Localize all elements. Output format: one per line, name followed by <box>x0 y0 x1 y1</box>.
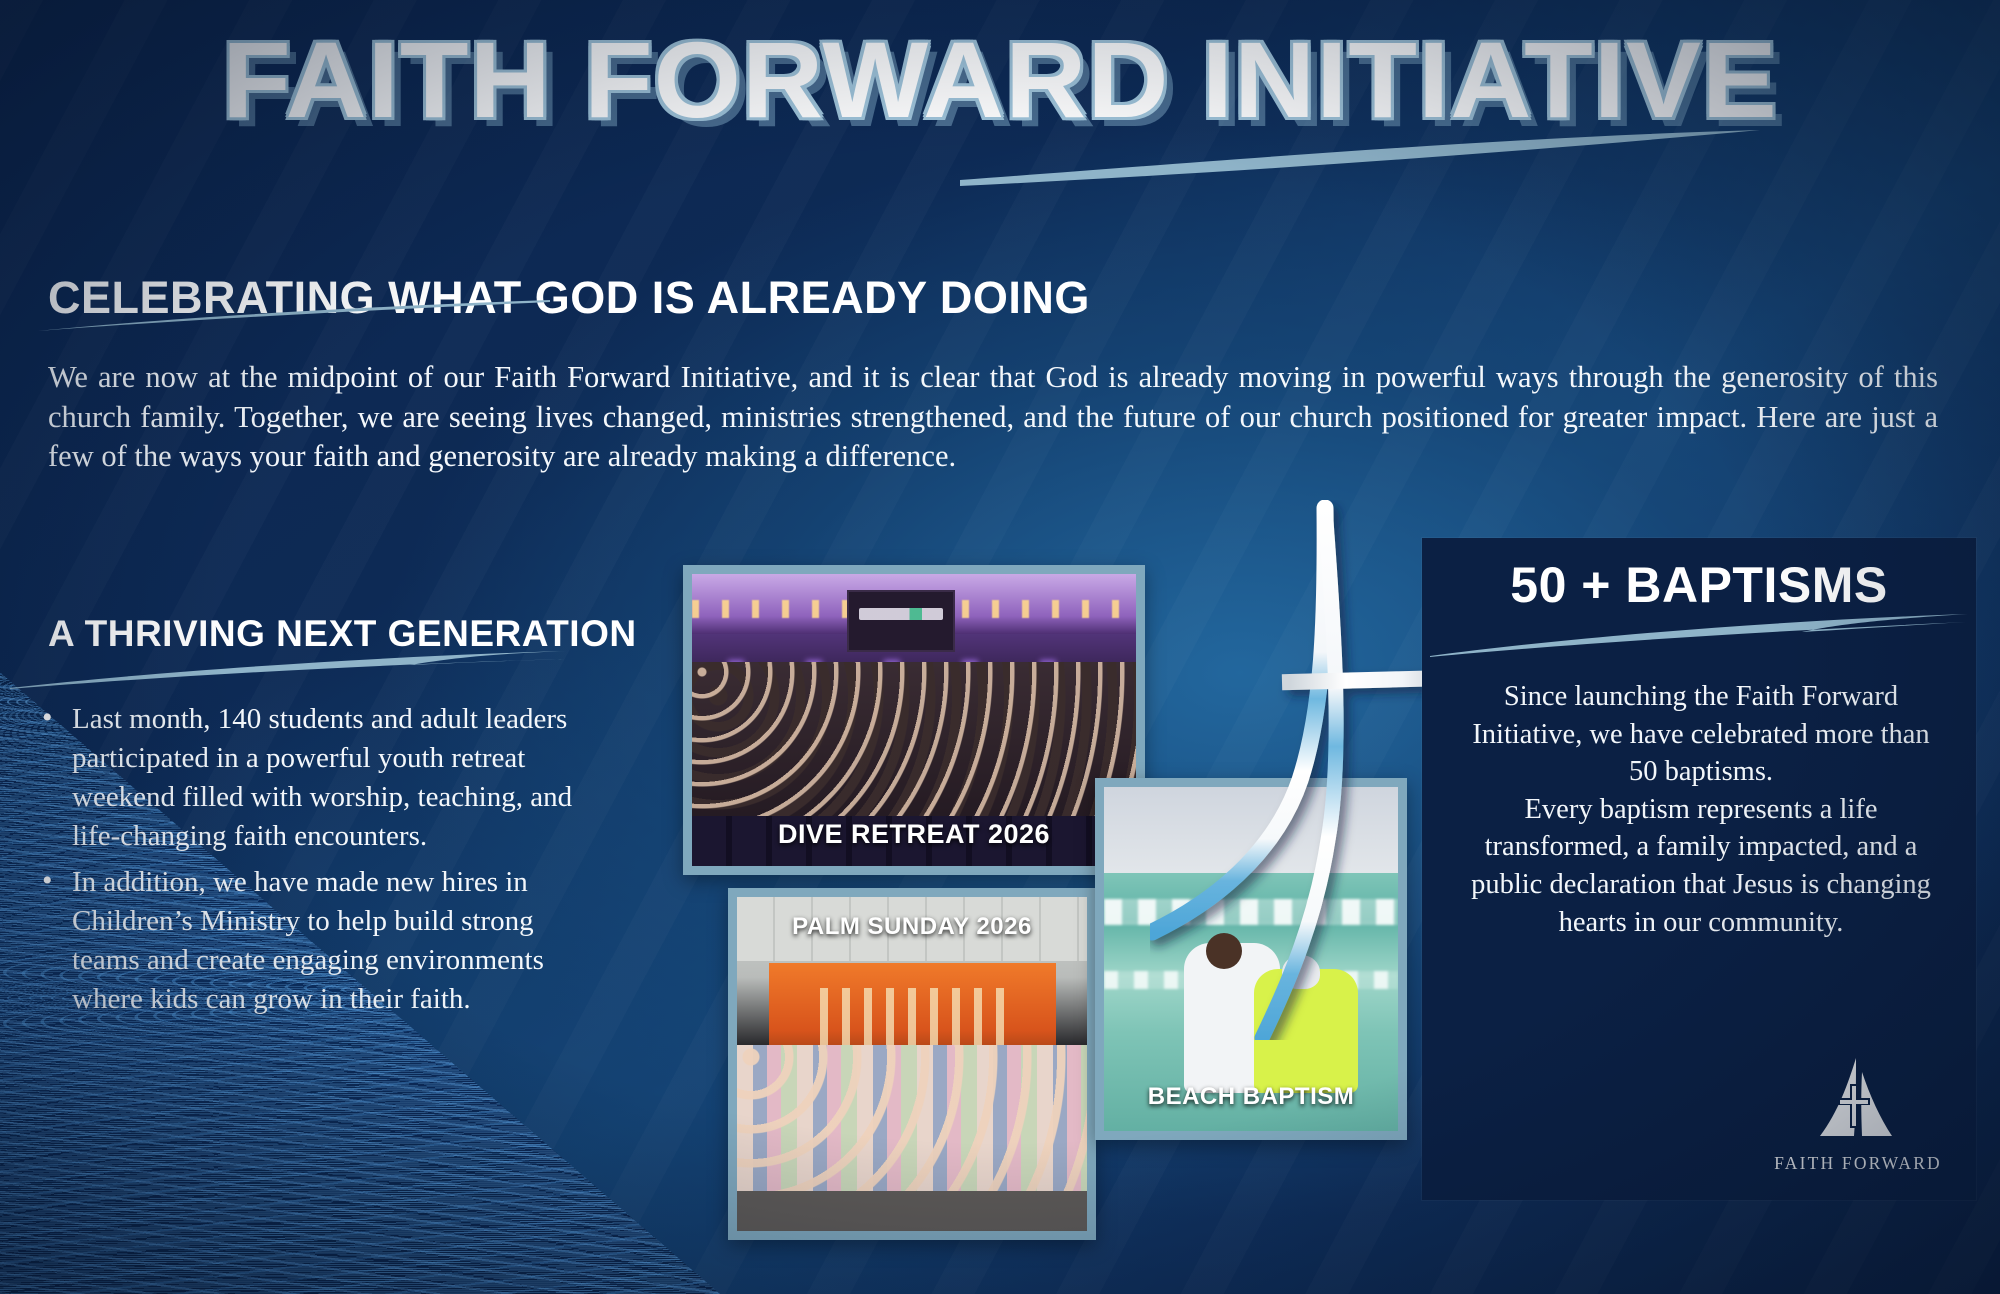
heading-baptisms: 50 + BAPTISMS <box>1422 560 1976 610</box>
title-block: FAITH FORWARD INITIATIVE <box>0 26 2000 134</box>
baptisms-panel: 50 + BAPTISMS Since launching the Faith … <box>1422 538 1976 1200</box>
photo-caption: PALM SUNDAY 2026 <box>737 913 1087 941</box>
stage-floor <box>737 1191 1087 1231</box>
photo-palm-sunday: PALM SUNDAY 2026 <box>728 888 1096 1240</box>
photo-beach-baptism: BEACH BAPTISM <box>1095 778 1407 1140</box>
baptisms-paragraph-1: Since launching the Faith Forward Initia… <box>1462 678 1940 791</box>
person-head <box>1206 933 1242 969</box>
pastor-head-with-cap <box>1282 955 1320 989</box>
sky <box>1104 787 1398 873</box>
crowd-of-students <box>692 662 1136 822</box>
baptisms-body: Since launching the Faith Forward Initia… <box>1462 678 1940 941</box>
photo-caption: BEACH BAPTISM <box>1104 1083 1398 1111</box>
wave-foam <box>1104 899 1398 925</box>
faith-forward-logo: FAITH FORWARD <box>1772 1054 1944 1178</box>
screen-text-graphic <box>859 608 943 620</box>
logo-wordmark: FAITH FORWARD <box>1772 1153 1944 1174</box>
heading-next-generation: A THRIVING NEXT GENERATION <box>48 615 637 652</box>
sailboat-cross-icon <box>1798 1054 1918 1146</box>
bullet-list-next-generation: Last month, 140 students and adult leade… <box>30 700 582 1027</box>
photo-caption: DIVE RETREAT 2026 <box>692 819 1136 850</box>
page-title: FAITH FORWARD INITIATIVE <box>212 26 1789 134</box>
heading-celebrating: CELEBRATING WHAT GOD IS ALREADY DOING <box>48 275 1090 320</box>
baptisms-paragraph-2: Every baptism represents a life transfor… <box>1462 791 1940 941</box>
group-of-children <box>737 1045 1087 1195</box>
photo-dive-retreat: DIVE RETREAT 2026 <box>683 565 1145 875</box>
list-item: In addition, we have made new hires in C… <box>72 863 582 1018</box>
heading-swoosh-2 <box>10 648 570 690</box>
poster-canvas: FAITH FORWARD INITIATIVE CELEBRATING WHA… <box>0 0 2000 1294</box>
stage-screen <box>847 590 955 652</box>
body-celebrating: We are now at the midpoint of our Faith … <box>48 358 1938 477</box>
list-item: Last month, 140 students and adult leade… <box>72 700 582 855</box>
